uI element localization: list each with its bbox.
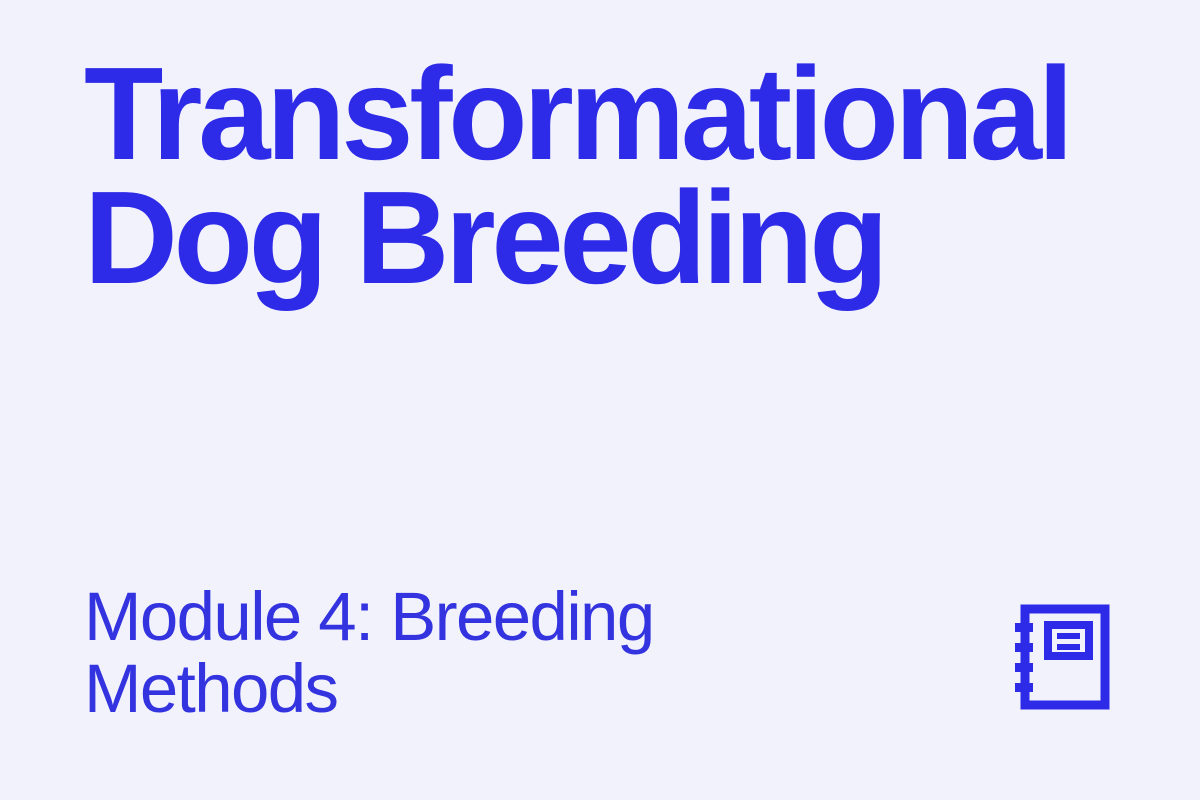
title-slide: Transformational Dog Breeding Module 4: … (0, 0, 1200, 800)
page-title: Transformational Dog Breeding (84, 52, 1144, 300)
page-subtitle-line-2: Methods (84, 653, 784, 725)
page-subtitle-line-1: Module 4: Breeding (84, 581, 784, 653)
notebook-icon (1014, 601, 1112, 713)
notebook-label-bar-2 (1057, 644, 1080, 650)
page-subtitle: Module 4: Breeding Methods (84, 581, 784, 725)
page-title-line-2: Dog Breeding (84, 176, 1128, 300)
notebook-ring-1 (1015, 623, 1033, 632)
notebook-label-box (1048, 625, 1089, 656)
page-title-line-1: Transformational (84, 52, 1128, 176)
notebook-ring-2 (1015, 643, 1033, 652)
notebook-ring-4 (1015, 683, 1033, 692)
notebook-ring-3 (1015, 663, 1033, 672)
notebook-label-bar-1 (1057, 633, 1080, 639)
